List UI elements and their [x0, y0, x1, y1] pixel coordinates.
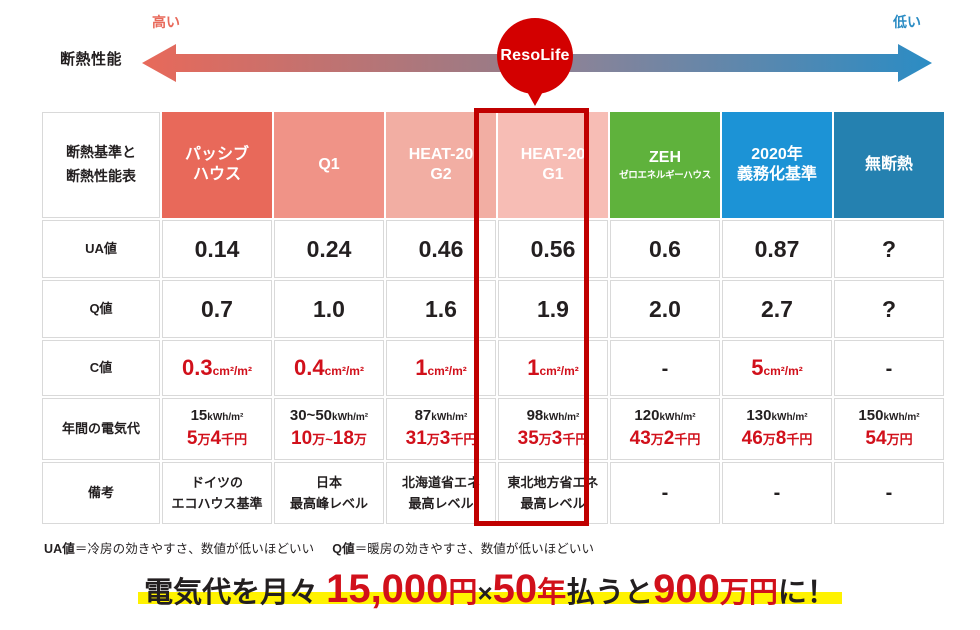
- comparison-table-area: 断熱基準と 断熱性能表 パッシブ ハウス Q1 HEAT-20 G2: [40, 110, 938, 526]
- kwh-line: 150kWh/m²: [835, 407, 943, 426]
- yen-small-1: 万: [651, 432, 664, 447]
- note-line-1: ドイツの: [191, 475, 243, 490]
- cell-q-heat20-g1: 1.9: [498, 280, 608, 338]
- cell-ua-heat20-g1: 0.56: [498, 220, 608, 278]
- yen-small-2: 千円: [221, 432, 247, 447]
- note-line-2: 最高レベル: [408, 496, 473, 511]
- kwh-line: 30~50kWh/m²: [275, 407, 383, 426]
- cell-ua-zeh: 0.6: [610, 220, 720, 278]
- column-header-no-insulation[interactable]: 無断熱: [834, 112, 944, 218]
- c-value: 1: [415, 355, 427, 380]
- kwh-unit: kWh/m²: [659, 412, 695, 423]
- header-line-1: 2020年: [751, 146, 803, 163]
- cell-power-standard-2020: 130kWh/m² 46万8千円: [722, 398, 832, 460]
- row-label-ua: UA値: [42, 220, 160, 278]
- kwh-value: 130: [746, 407, 771, 424]
- headline-years: 50: [493, 567, 538, 611]
- kwh-line: 98kWh/m²: [499, 407, 607, 426]
- footnote-ua-desc: ＝冷房の効きやすさ、数値が低いほどいい: [75, 542, 314, 556]
- column-header-zeh[interactable]: ZEH ゼロエネルギーハウス: [610, 112, 720, 218]
- footnote-q-desc: ＝暖房の効きやすさ、数値が低いほどいい: [355, 542, 594, 556]
- table-row-annual-power-cost: 年間の電気代 15kWh/m² 5万4千円 30~50kWh/m² 10万~18…: [42, 398, 944, 460]
- c-unit: cm²/m²: [539, 364, 578, 378]
- headline-times: ×: [477, 578, 492, 608]
- note-line-2: 最高峰レベル: [290, 496, 368, 511]
- c-unit: cm²/m²: [427, 364, 466, 378]
- cell-notes-q1: 日本 最高峰レベル: [274, 462, 384, 524]
- header-line-1: ZEH: [649, 149, 681, 166]
- yen-small-1: 万~: [312, 432, 333, 447]
- cell-q-heat20-g2: 1.6: [386, 280, 496, 338]
- yen-big-1: 31: [406, 428, 427, 449]
- kwh-unit: kWh/m²: [883, 412, 919, 423]
- cell-power-heat20-g1: 98kWh/m² 35万3千円: [498, 398, 608, 460]
- cell-ua-no-insulation: ?: [834, 220, 944, 278]
- row-label-annual-power-cost: 年間の電気代: [42, 398, 160, 460]
- yen-small-2: 千円: [450, 432, 476, 447]
- header-line-2: G1: [542, 166, 563, 183]
- header-line-2: G2: [430, 166, 451, 183]
- cell-q-no-insulation: ?: [834, 280, 944, 338]
- yen-big-2: 3: [440, 428, 451, 449]
- note-line-1: -: [886, 482, 893, 504]
- header-line-1: 無断熱: [865, 156, 913, 173]
- kwh-value: 98: [527, 407, 544, 424]
- header-line-1: パッシブ: [185, 146, 249, 163]
- column-header-q1[interactable]: Q1: [274, 112, 384, 218]
- yen-small-1: 万: [539, 432, 552, 447]
- yen-line: 46万8千円: [723, 427, 831, 451]
- kwh-value: 15: [191, 407, 208, 424]
- yen-small-2: 千円: [674, 432, 700, 447]
- kwh-value: 30~50: [290, 407, 332, 424]
- header-line-1: Q1: [318, 156, 339, 173]
- yen-small-1: 万: [427, 432, 440, 447]
- yen-big-1: 46: [742, 428, 763, 449]
- kwh-line: 87kWh/m²: [387, 407, 495, 426]
- yen-big-2: 2: [664, 428, 675, 449]
- insulation-comparison-table: 断熱基準と 断熱性能表 パッシブ ハウス Q1 HEAT-20 G2: [40, 110, 946, 526]
- cell-notes-standard-2020: -: [722, 462, 832, 524]
- cell-q-standard-2020: 2.7: [722, 280, 832, 338]
- note-line-1: 北海道省エネ: [402, 475, 480, 490]
- yen-line: 43万2千円: [611, 427, 719, 451]
- arrow-low-label: 低い: [893, 12, 921, 32]
- note-line-1: 東北地方省エネ: [507, 475, 598, 490]
- cell-q-q1: 1.0: [274, 280, 384, 338]
- kwh-unit: kWh/m²: [431, 412, 467, 423]
- cell-power-passive-house: 15kWh/m² 5万4千円: [162, 398, 272, 460]
- infographic-root: 断熱性能 高い 低い ResoLife: [0, 0, 980, 630]
- c-value: -: [886, 358, 893, 380]
- kwh-line: 130kWh/m²: [723, 407, 831, 426]
- yen-line: 31万3千円: [387, 427, 495, 451]
- headline-total-unit: 万円: [720, 577, 778, 609]
- note-line-1: -: [662, 482, 669, 504]
- note-line-2: 最高レベル: [520, 496, 585, 511]
- table-row-q: Q値 0.7 1.0 1.6 1.9 2.0 2.7 ?: [42, 280, 944, 338]
- yen-small-2: 万: [354, 432, 367, 447]
- column-header-standard-2020[interactable]: 2020年 義務化基準: [722, 112, 832, 218]
- header-line-2: 義務化基準: [737, 166, 817, 183]
- cell-power-heat20-g2: 87kWh/m² 31万3千円: [386, 398, 496, 460]
- column-header-passive-house[interactable]: パッシブ ハウス: [162, 112, 272, 218]
- footnote: UA値＝冷房の効きやすさ、数値が低いほどいいQ値＝暖房の効きやすさ、数値が低いほ…: [44, 538, 594, 557]
- yen-big-1: 5: [187, 428, 198, 449]
- header-line-1: HEAT-20: [409, 146, 474, 163]
- cell-power-q1: 30~50kWh/m² 10万~18万: [274, 398, 384, 460]
- cell-notes-heat20-g1: 東北地方省エネ 最高レベル: [498, 462, 608, 524]
- kwh-unit: kWh/m²: [332, 412, 368, 423]
- cell-c-no-insulation: -: [834, 340, 944, 396]
- headline-lead: 電気代を月々: [144, 577, 318, 609]
- table-header-row: 断熱基準と 断熱性能表 パッシブ ハウス Q1 HEAT-20 G2: [42, 112, 944, 218]
- cell-ua-passive-house: 0.14: [162, 220, 272, 278]
- headline-amount-unit: 円: [448, 577, 477, 609]
- cell-ua-heat20-g2: 0.46: [386, 220, 496, 278]
- performance-arrow-band: 断熱性能 高い 低い ResoLife: [0, 0, 980, 100]
- yen-big-1: 43: [630, 428, 651, 449]
- kwh-line: 120kWh/m²: [611, 407, 719, 426]
- yen-line: 54万円: [835, 427, 943, 451]
- cell-ua-q1: 0.24: [274, 220, 384, 278]
- headline-amount: 15,000: [326, 567, 448, 611]
- yen-big-2: 3: [552, 428, 563, 449]
- yen-small-1: 万円: [887, 432, 913, 447]
- yen-line: 10万~18万: [275, 427, 383, 451]
- yen-big-2: 8: [776, 428, 787, 449]
- kwh-value: 120: [634, 407, 659, 424]
- table-row-c: C値 0.3cm²/m² 0.4cm²/m² 1cm²/m² 1cm²/m² -: [42, 340, 944, 396]
- header-line-1: HEAT-20: [521, 146, 586, 163]
- row-label-notes: 備考: [42, 462, 160, 524]
- kwh-unit: kWh/m²: [207, 412, 243, 423]
- cell-power-no-insulation: 150kWh/m² 54万円: [834, 398, 944, 460]
- table-row-notes: 備考 ドイツの エコハウス基準 日本 最高峰レベル 北海道省エネ 最高レベル: [42, 462, 944, 524]
- corner-line-1: 断熱基準と: [66, 144, 136, 160]
- c-value: -: [662, 358, 669, 380]
- bottom-headline: 電気代を月々15,000円×50年払うと900万円に！: [0, 568, 980, 610]
- yen-big-1: 35: [518, 428, 539, 449]
- cell-c-heat20-g2: 1cm²/m²: [386, 340, 496, 396]
- headline-tail: に！: [778, 577, 836, 609]
- c-value: 0.4: [294, 355, 325, 380]
- yen-line: 35万3千円: [499, 427, 607, 451]
- header-subtitle: ゼロエネルギーハウス: [610, 170, 720, 182]
- footnote-q-term: Q値: [332, 542, 354, 556]
- kwh-unit: kWh/m²: [771, 412, 807, 423]
- kwh-unit: kWh/m²: [543, 412, 579, 423]
- note-line-2: エコハウス基準: [171, 496, 262, 511]
- headline-years-unit: 年: [537, 577, 566, 609]
- column-header-heat20-g1[interactable]: HEAT-20 G1: [498, 112, 608, 218]
- cell-q-zeh: 2.0: [610, 280, 720, 338]
- c-unit: cm²/m²: [763, 364, 802, 378]
- cell-notes-passive-house: ドイツの エコハウス基準: [162, 462, 272, 524]
- cell-power-zeh: 120kWh/m² 43万2千円: [610, 398, 720, 460]
- yen-small-1: 万: [763, 432, 776, 447]
- c-value: 1: [527, 355, 539, 380]
- cell-notes-zeh: -: [610, 462, 720, 524]
- cell-notes-heat20-g2: 北海道省エネ 最高レベル: [386, 462, 496, 524]
- note-line-1: 日本: [316, 475, 342, 490]
- cell-c-passive-house: 0.3cm²/m²: [162, 340, 272, 396]
- yen-small-1: 万: [197, 432, 210, 447]
- kwh-value: 87: [415, 407, 432, 424]
- column-header-heat20-g2[interactable]: HEAT-20 G2: [386, 112, 496, 218]
- c-value: 5: [751, 355, 763, 380]
- performance-label: 断熱性能: [60, 48, 122, 69]
- headline-text: 電気代を月々15,000円×50年払うと900万円に！: [144, 589, 836, 606]
- footnote-ua-term: UA値: [44, 542, 75, 556]
- yen-big-1: 10: [291, 428, 312, 449]
- cell-c-standard-2020: 5cm²/m²: [722, 340, 832, 396]
- cell-c-zeh: -: [610, 340, 720, 396]
- arrow-high-label: 高い: [152, 12, 180, 32]
- yen-small-2: 千円: [786, 432, 812, 447]
- cell-c-heat20-g1: 1cm²/m²: [498, 340, 608, 396]
- c-unit: cm²/m²: [325, 364, 364, 378]
- c-value: 0.3: [182, 355, 213, 380]
- kwh-line: 15kWh/m²: [163, 407, 271, 426]
- row-label-q: Q値: [42, 280, 160, 338]
- c-unit: cm²/m²: [213, 364, 252, 378]
- table-corner-cell: 断熱基準と 断熱性能表: [42, 112, 160, 218]
- cell-c-q1: 0.4cm²/m²: [274, 340, 384, 396]
- cell-q-passive-house: 0.7: [162, 280, 272, 338]
- header-line-2: ハウス: [193, 166, 241, 183]
- table-row-ua: UA値 0.14 0.24 0.46 0.56 0.6 0.87 ?: [42, 220, 944, 278]
- yen-small-2: 千円: [562, 432, 588, 447]
- row-label-c: C値: [42, 340, 160, 396]
- resolife-badge: ResoLife: [497, 18, 573, 94]
- kwh-value: 150: [858, 407, 883, 424]
- headline-mid: 払うと: [566, 577, 653, 609]
- yen-line: 5万4千円: [163, 427, 271, 451]
- note-line-1: -: [774, 482, 781, 504]
- yen-big-2: 4: [211, 428, 222, 449]
- corner-line-2: 断熱性能表: [66, 168, 136, 184]
- yen-big-1: 54: [865, 428, 886, 449]
- cell-ua-standard-2020: 0.87: [722, 220, 832, 278]
- cell-notes-no-insulation: -: [834, 462, 944, 524]
- headline-total: 900: [653, 567, 720, 611]
- yen-big-2: 18: [333, 428, 354, 449]
